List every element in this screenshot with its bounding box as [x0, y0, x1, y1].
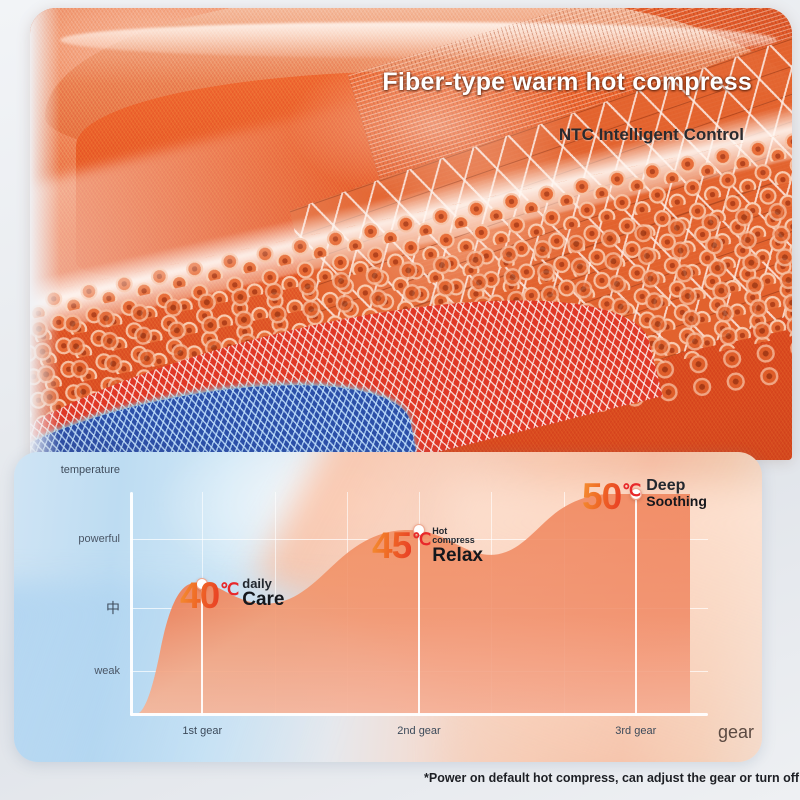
x-tick-1st-gear: 1st gear [182, 725, 222, 737]
callout-1st-gear: 40℃ daily Care [180, 577, 285, 614]
callout-unit-1: ℃ [220, 580, 239, 599]
page-root: Fiber-type warm hot compress NTC Intelli… [0, 0, 800, 800]
y-tick-weak: weak [94, 665, 120, 677]
callout-label-small-1: daily [242, 577, 284, 590]
y-tick-medium: 中 [106, 598, 120, 618]
callout-unit-3: ℃ [622, 481, 641, 500]
temperature-chart-panel: temperature powerful 中 weak 1st gear 2nd… [14, 452, 762, 762]
callout-label-tiny-2: Hot compress [432, 527, 483, 546]
callout-temp-1: 40 [180, 575, 219, 616]
product-image-panel: Fiber-type warm hot compress NTC Intelli… [30, 8, 792, 460]
callout-label-big-2: Relax [432, 546, 483, 565]
left-edge-fade [30, 8, 60, 460]
y-axis-line [130, 492, 133, 716]
callout-unit-2: ℃ [412, 530, 431, 549]
y-axis-title: temperature [61, 464, 120, 476]
marker-stem-3 [635, 494, 637, 716]
y-tick-powerful: powerful [78, 533, 120, 545]
x-axis-title: gear [718, 722, 754, 743]
x-tick-3rd-gear: 3rd gear [615, 725, 656, 737]
product-headline: Fiber-type warm hot compress [382, 68, 752, 97]
x-tick-2nd-gear: 2nd gear [397, 725, 440, 737]
callout-3rd-gear: 50℃ Deep Soothing [582, 478, 707, 515]
product-subheadline: NTC Intelligent Control [559, 125, 744, 145]
callout-2nd-gear: 45℃ Hot compress Relax [372, 527, 483, 565]
callout-temp-2: 45 [372, 525, 411, 566]
footnote-text: *Power on default hot compress, can adju… [424, 771, 800, 785]
chart-plot-area: temperature powerful 中 weak 1st gear 2nd… [130, 492, 708, 716]
callout-label-small-3: Deep [646, 478, 707, 494]
callout-temp-3: 50 [582, 476, 621, 517]
callout-label-big-3: Soothing [646, 494, 707, 508]
callout-label-big-1: Care [242, 590, 284, 609]
